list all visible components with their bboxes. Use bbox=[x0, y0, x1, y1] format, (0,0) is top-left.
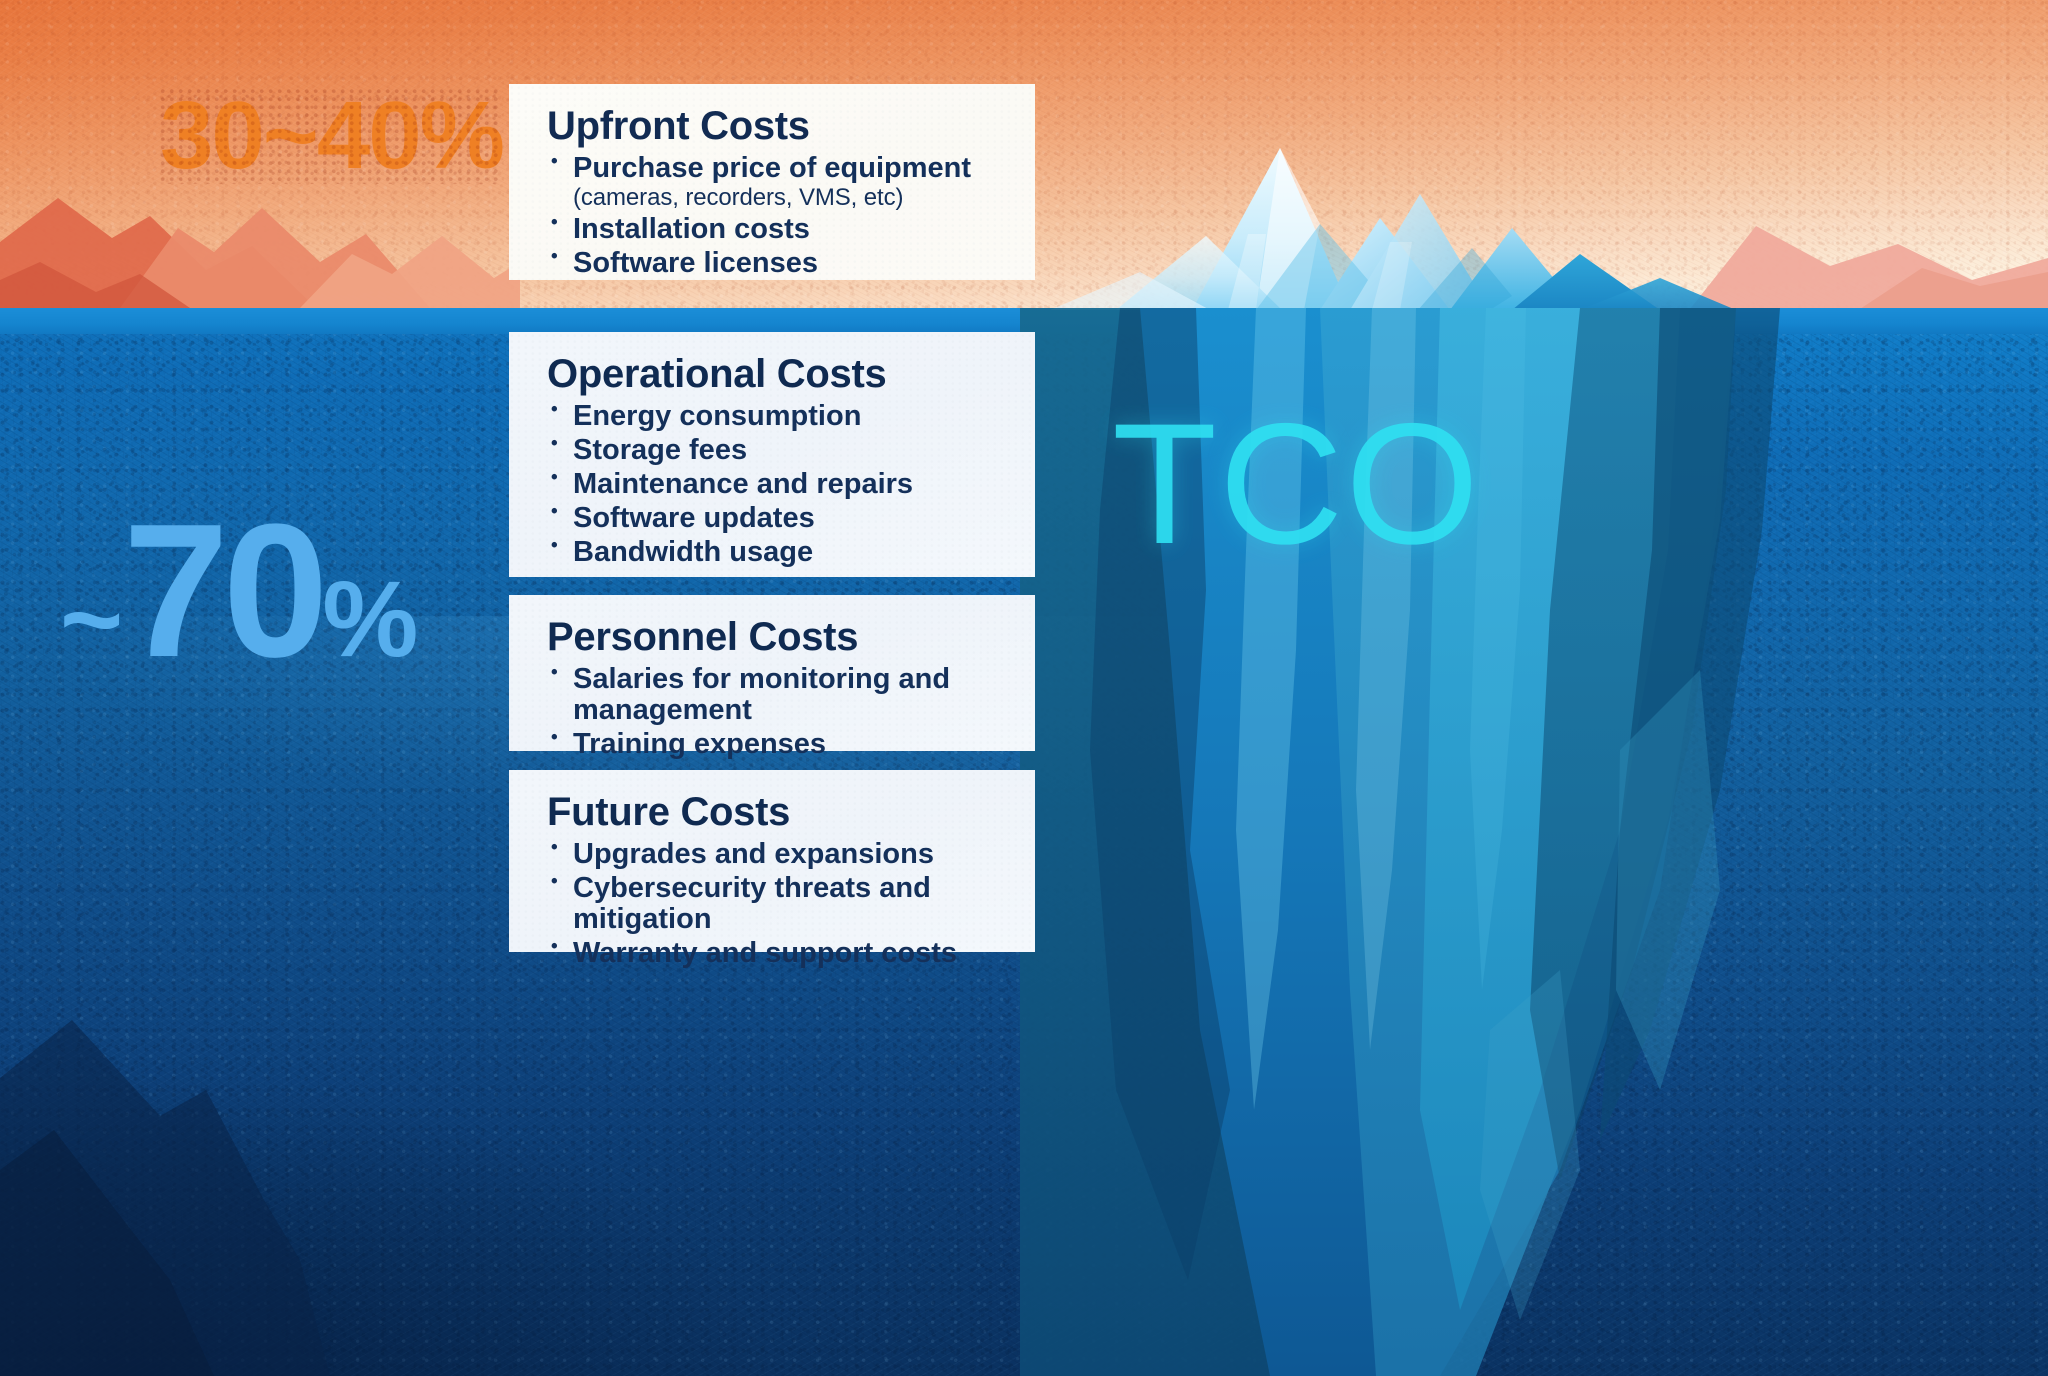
list-item: Bandwidth usage bbox=[547, 537, 1005, 568]
iceberg-above-water bbox=[1050, 148, 1736, 310]
seafloor-rocks bbox=[0, 1020, 330, 1376]
iceberg-illustration bbox=[1020, 130, 2048, 1376]
list-item: Warranty and support costs bbox=[547, 938, 1005, 969]
list-item: Salaries for monitoring and management bbox=[547, 664, 1005, 726]
card-future-title: Future Costs bbox=[547, 790, 1005, 835]
infographic-canvas: 30~40% ~70% TCO Upfront Costs Purchase p… bbox=[0, 0, 2048, 1376]
card-upfront-bullets: Purchase price of equipment (cameras, re… bbox=[547, 153, 1005, 279]
list-item: Software licenses bbox=[547, 248, 1005, 279]
list-item: Cybersecurity threats and mitigation bbox=[547, 873, 1005, 935]
bullet-text: Storage fees bbox=[573, 434, 747, 466]
card-future-bullets: Upgrades and expansions Cybersecurity th… bbox=[547, 839, 1005, 969]
card-personnel-title: Personnel Costs bbox=[547, 615, 1005, 660]
list-item: Maintenance and repairs bbox=[547, 469, 1005, 500]
bullet-text: Cybersecurity threats and mitigation bbox=[573, 872, 931, 935]
bullet-text: Upgrades and expansions bbox=[573, 838, 934, 870]
card-operational-costs: Operational Costs Energy consumption Sto… bbox=[509, 332, 1035, 577]
card-personnel-bullets: Salaries for monitoring and management T… bbox=[547, 664, 1005, 760]
tco-overlay-label: TCO bbox=[1112, 398, 1481, 570]
list-item: Software updates bbox=[547, 503, 1005, 534]
card-operational-title: Operational Costs bbox=[547, 352, 1005, 397]
bullet-text: Software updates bbox=[573, 502, 815, 534]
card-personnel-costs: Personnel Costs Salaries for monitoring … bbox=[509, 595, 1035, 751]
list-item: Energy consumption bbox=[547, 401, 1005, 432]
list-item: Purchase price of equipment (cameras, re… bbox=[547, 153, 1005, 211]
list-item: Training expenses bbox=[547, 729, 1005, 760]
card-upfront-costs: Upfront Costs Purchase price of equipmen… bbox=[509, 84, 1035, 280]
card-operational-bullets: Energy consumption Storage fees Maintena… bbox=[547, 401, 1005, 568]
card-upfront-title: Upfront Costs bbox=[547, 104, 1005, 149]
bullet-text: Software licenses bbox=[573, 247, 818, 279]
bullet-text: Purchase price of equipment bbox=[573, 152, 971, 184]
card-future-costs: Future Costs Upgrades and expansions Cyb… bbox=[509, 770, 1035, 952]
below-water-percent-symbol: % bbox=[322, 558, 418, 679]
bullet-text: Bandwidth usage bbox=[573, 536, 813, 568]
bullet-text: Training expenses bbox=[573, 728, 826, 760]
bullet-text: Maintenance and repairs bbox=[573, 468, 913, 500]
list-item: Installation costs bbox=[547, 214, 1005, 245]
list-item: Storage fees bbox=[547, 435, 1005, 466]
bullet-text: Salaries for monitoring and management bbox=[573, 663, 950, 726]
above-water-percent: 30~40% bbox=[160, 88, 503, 184]
bullet-text: Warranty and support costs bbox=[573, 937, 957, 969]
list-item: Upgrades and expansions bbox=[547, 839, 1005, 870]
bullet-subtext: (cameras, recorders, VMS, etc) bbox=[573, 185, 1005, 211]
bullet-text: Energy consumption bbox=[573, 400, 861, 432]
below-water-percent-number: 70 bbox=[123, 485, 322, 697]
below-water-percent: ~70% bbox=[60, 496, 418, 686]
bullet-text: Installation costs bbox=[573, 213, 810, 245]
below-water-percent-prefix: ~ bbox=[60, 558, 123, 679]
